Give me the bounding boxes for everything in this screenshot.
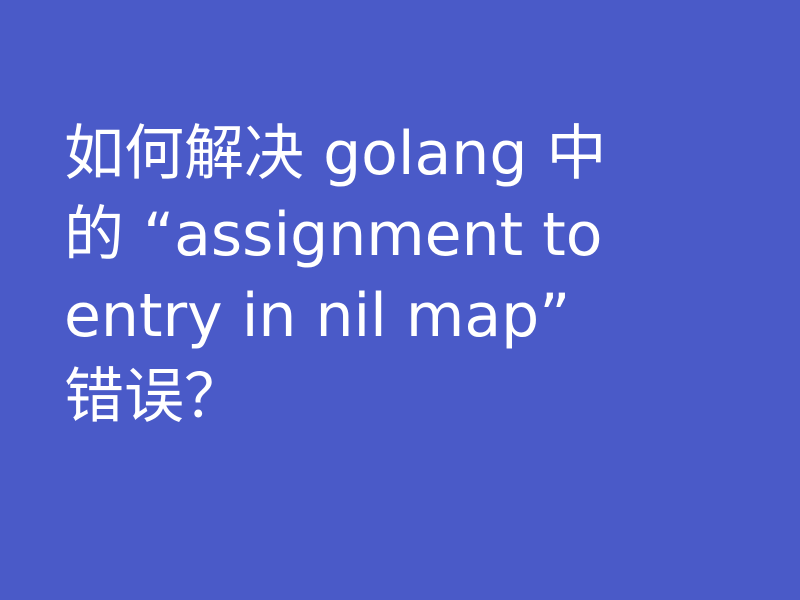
title-block: 如何解决 golang 中的 “assignment to entry in n… (64, 114, 634, 438)
page-title: 如何解决 golang 中的 “assignment to entry in n… (64, 114, 634, 438)
thumbnail-card: 如何解决 golang 中的 “assignment to entry in n… (0, 0, 800, 600)
